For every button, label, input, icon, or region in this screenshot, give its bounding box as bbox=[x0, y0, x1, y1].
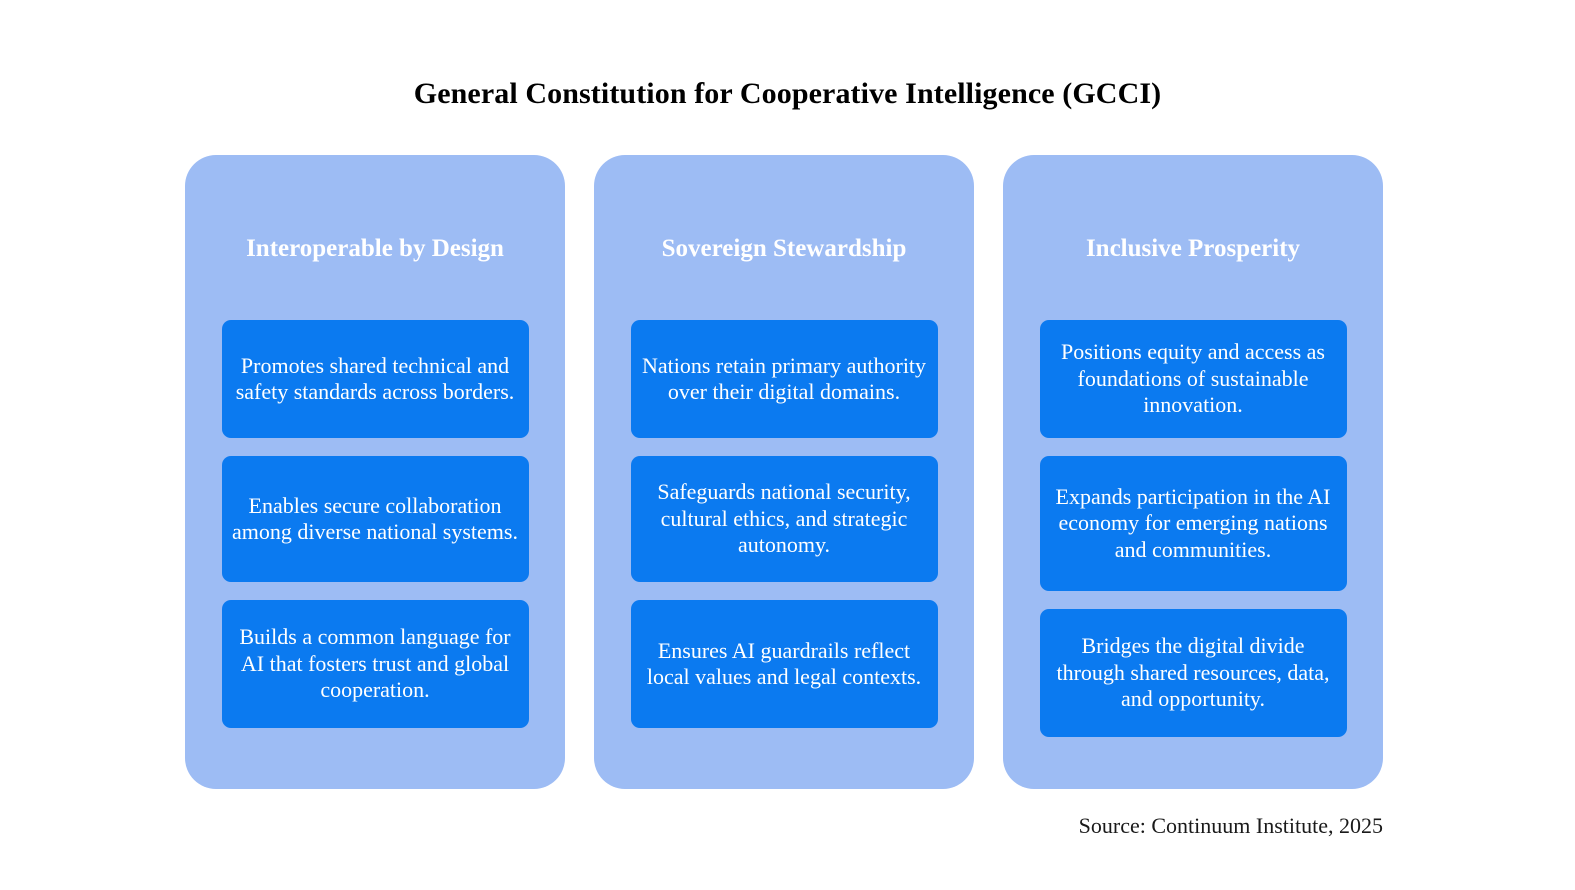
pillar-card-text: Enables secure collaboration among diver… bbox=[232, 493, 519, 546]
pillar-columns: Interoperable by Design Promotes shared … bbox=[185, 155, 1383, 789]
pillar-title: Interoperable by Design bbox=[205, 233, 545, 265]
page-title: General Constitution for Cooperative Int… bbox=[0, 74, 1575, 114]
slide-canvas: General Constitution for Cooperative Int… bbox=[0, 0, 1575, 890]
pillar-panel-sovereign-stewardship[interactable]: Sovereign Stewardship Nations retain pri… bbox=[594, 155, 974, 789]
pillar-card-list: Promotes shared technical and safety sta… bbox=[185, 320, 565, 746]
pillar-card[interactable]: Builds a common language for AI that fos… bbox=[222, 600, 529, 728]
pillar-card[interactable]: Nations retain primary authority over th… bbox=[631, 320, 938, 438]
pillar-card-text: Builds a common language for AI that fos… bbox=[232, 624, 519, 704]
pillar-card-text: Ensures AI guardrails reflect local valu… bbox=[641, 638, 928, 691]
pillar-card-list: Nations retain primary authority over th… bbox=[594, 320, 974, 746]
pillar-card-list: Positions equity and access as foundatio… bbox=[1003, 320, 1383, 755]
pillar-panel-inclusive-prosperity[interactable]: Inclusive Prosperity Positions equity an… bbox=[1003, 155, 1383, 789]
pillar-card[interactable]: Promotes shared technical and safety sta… bbox=[222, 320, 529, 438]
pillar-title: Sovereign Stewardship bbox=[614, 233, 954, 265]
pillar-card[interactable]: Ensures AI guardrails reflect local valu… bbox=[631, 600, 938, 728]
pillar-panel-interoperable-by-design[interactable]: Interoperable by Design Promotes shared … bbox=[185, 155, 565, 789]
pillar-card-text: Bridges the digital divide through share… bbox=[1050, 633, 1337, 713]
pillar-card[interactable]: Expands participation in the AI economy … bbox=[1040, 456, 1347, 591]
pillar-card-text: Safeguards national security, cultural e… bbox=[641, 479, 928, 559]
pillar-card[interactable]: Safeguards national security, cultural e… bbox=[631, 456, 938, 582]
pillar-card[interactable]: Positions equity and access as foundatio… bbox=[1040, 320, 1347, 438]
pillar-card-text: Nations retain primary authority over th… bbox=[641, 353, 928, 406]
pillar-card[interactable]: Bridges the digital divide through share… bbox=[1040, 609, 1347, 737]
pillar-card-text: Positions equity and access as foundatio… bbox=[1050, 339, 1337, 419]
pillar-title: Inclusive Prosperity bbox=[1023, 233, 1363, 265]
source-note: Source: Continuum Institute, 2025 bbox=[1079, 812, 1383, 840]
pillar-card-text: Expands participation in the AI economy … bbox=[1050, 484, 1337, 564]
pillar-card-text: Promotes shared technical and safety sta… bbox=[232, 353, 519, 406]
pillar-card[interactable]: Enables secure collaboration among diver… bbox=[222, 456, 529, 582]
